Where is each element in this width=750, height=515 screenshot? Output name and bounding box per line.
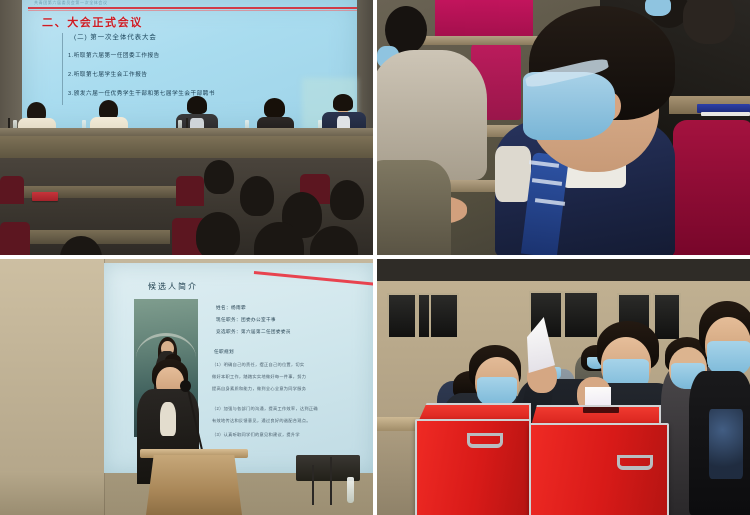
- head-table-front: [0, 136, 373, 158]
- voter-1-mask: [477, 377, 517, 407]
- wall-panel-lower: [0, 471, 105, 515]
- slide-subtitle: (二) 第一次全体代表大会: [74, 31, 157, 41]
- photo-collage: 共青团第六届委员会第一次全体会议 二、大会正式会议 (二) 第一次全体代表大会 …: [0, 0, 750, 515]
- window: [563, 291, 599, 339]
- upper-wall-band: [377, 259, 750, 281]
- slide-title: 二、大会正式会议: [42, 14, 143, 30]
- water-bottle: [347, 477, 354, 503]
- audience-head: [330, 180, 364, 220]
- window: [429, 293, 459, 339]
- slide-header-text: 共青团第六届委员会第一次全体会议: [34, 0, 347, 7]
- panel-top-right-delegate: [377, 0, 750, 255]
- audience-desk-row: [0, 186, 200, 198]
- auditorium-seat: [0, 176, 24, 204]
- auditorium-seat: [0, 222, 30, 255]
- slide-field-name: 姓名：杨雨霏: [216, 305, 246, 311]
- seated-student-lap: [377, 160, 451, 255]
- ballot-box-slot: [583, 407, 619, 413]
- slide-title: 候选人简介: [148, 281, 198, 292]
- slide-accent-line: [254, 271, 373, 295]
- slide-section-heading: 任职规划: [214, 349, 234, 355]
- ballot-box-right-handle: [617, 455, 653, 470]
- auditorium-seat-foreground: [673, 120, 750, 255]
- slide-accent-bar: [62, 33, 63, 105]
- ballot-box-left-handle: [467, 433, 503, 448]
- white-paper-stack: [701, 112, 750, 116]
- slide-paragraph-3: 提高自身素质和能力，做到全心全意为同学服务: [212, 386, 306, 392]
- wall-left: [0, 0, 22, 132]
- auditorium-seat: [435, 0, 465, 40]
- auditorium-seat: [176, 176, 204, 206]
- audience-placard: [32, 192, 58, 201]
- panelist-3-hair: [187, 96, 207, 114]
- window: [653, 293, 681, 341]
- slide-paragraph-5: 有效地传达和反馈意见，通过良好的谐配合观点。: [212, 418, 311, 424]
- audience-head: [204, 160, 234, 194]
- background-student-head: [683, 0, 735, 44]
- slide-paragraph-1: （1）明确自己的责任，摆正自己的位置，切实: [212, 362, 304, 368]
- window: [387, 293, 417, 339]
- speaker-shirt: [160, 402, 176, 436]
- tshirt-graphic: [709, 409, 743, 479]
- slide-paragraph-4: （2）加强与各部门的沟通，提高工作效率，达到正确: [212, 406, 318, 412]
- seat-rail: [419, 36, 549, 45]
- panel-bottom-left-candidate-speech: 候选人简介 姓名：杨雨霏 现任职务：团委办公室干事 竞选职务：第六届第二任团委委…: [0, 259, 373, 515]
- head-table-top: [0, 128, 373, 136]
- slide-paragraph-6: （3）认真听取同学们的意见和建议，提升学: [212, 432, 300, 438]
- wooden-podium: [146, 455, 242, 515]
- panelist-4-hair: [264, 98, 285, 118]
- slide-divider-rule: [28, 7, 357, 9]
- handheld-microphone-head: [180, 380, 191, 392]
- stage-microphone: [330, 457, 332, 505]
- slide-field-target-role: 竞选职务：第六届第二任团委委员: [216, 329, 291, 335]
- audience-head: [196, 212, 240, 255]
- audience-head: [240, 176, 274, 216]
- slide-list-item-2: 2.听取第七届学生会工作报告: [68, 70, 148, 78]
- background-student-mask: [645, 0, 671, 16]
- panel-bottom-right-voting: [377, 259, 750, 515]
- slide-divider-rule-secondary: [28, 10, 357, 11]
- slide-paragraph-2: 做好本职工作，踏踏实实地做好每一件事，努力: [212, 374, 306, 380]
- slide-list-item-1: 1.听取第六届第一任团委工作报告: [68, 51, 160, 59]
- panelist-5-hair: [333, 94, 353, 111]
- panel-top-left-presidium: 共青团第六届委员会第一次全体会议 二、大会正式会议 (二) 第一次全体代表大会 …: [0, 0, 373, 255]
- delegate-shirt-cuff: [495, 146, 531, 202]
- stage-microphone: [312, 465, 314, 505]
- slide-field-current-role: 现任职务：团委办公室干事: [216, 317, 276, 323]
